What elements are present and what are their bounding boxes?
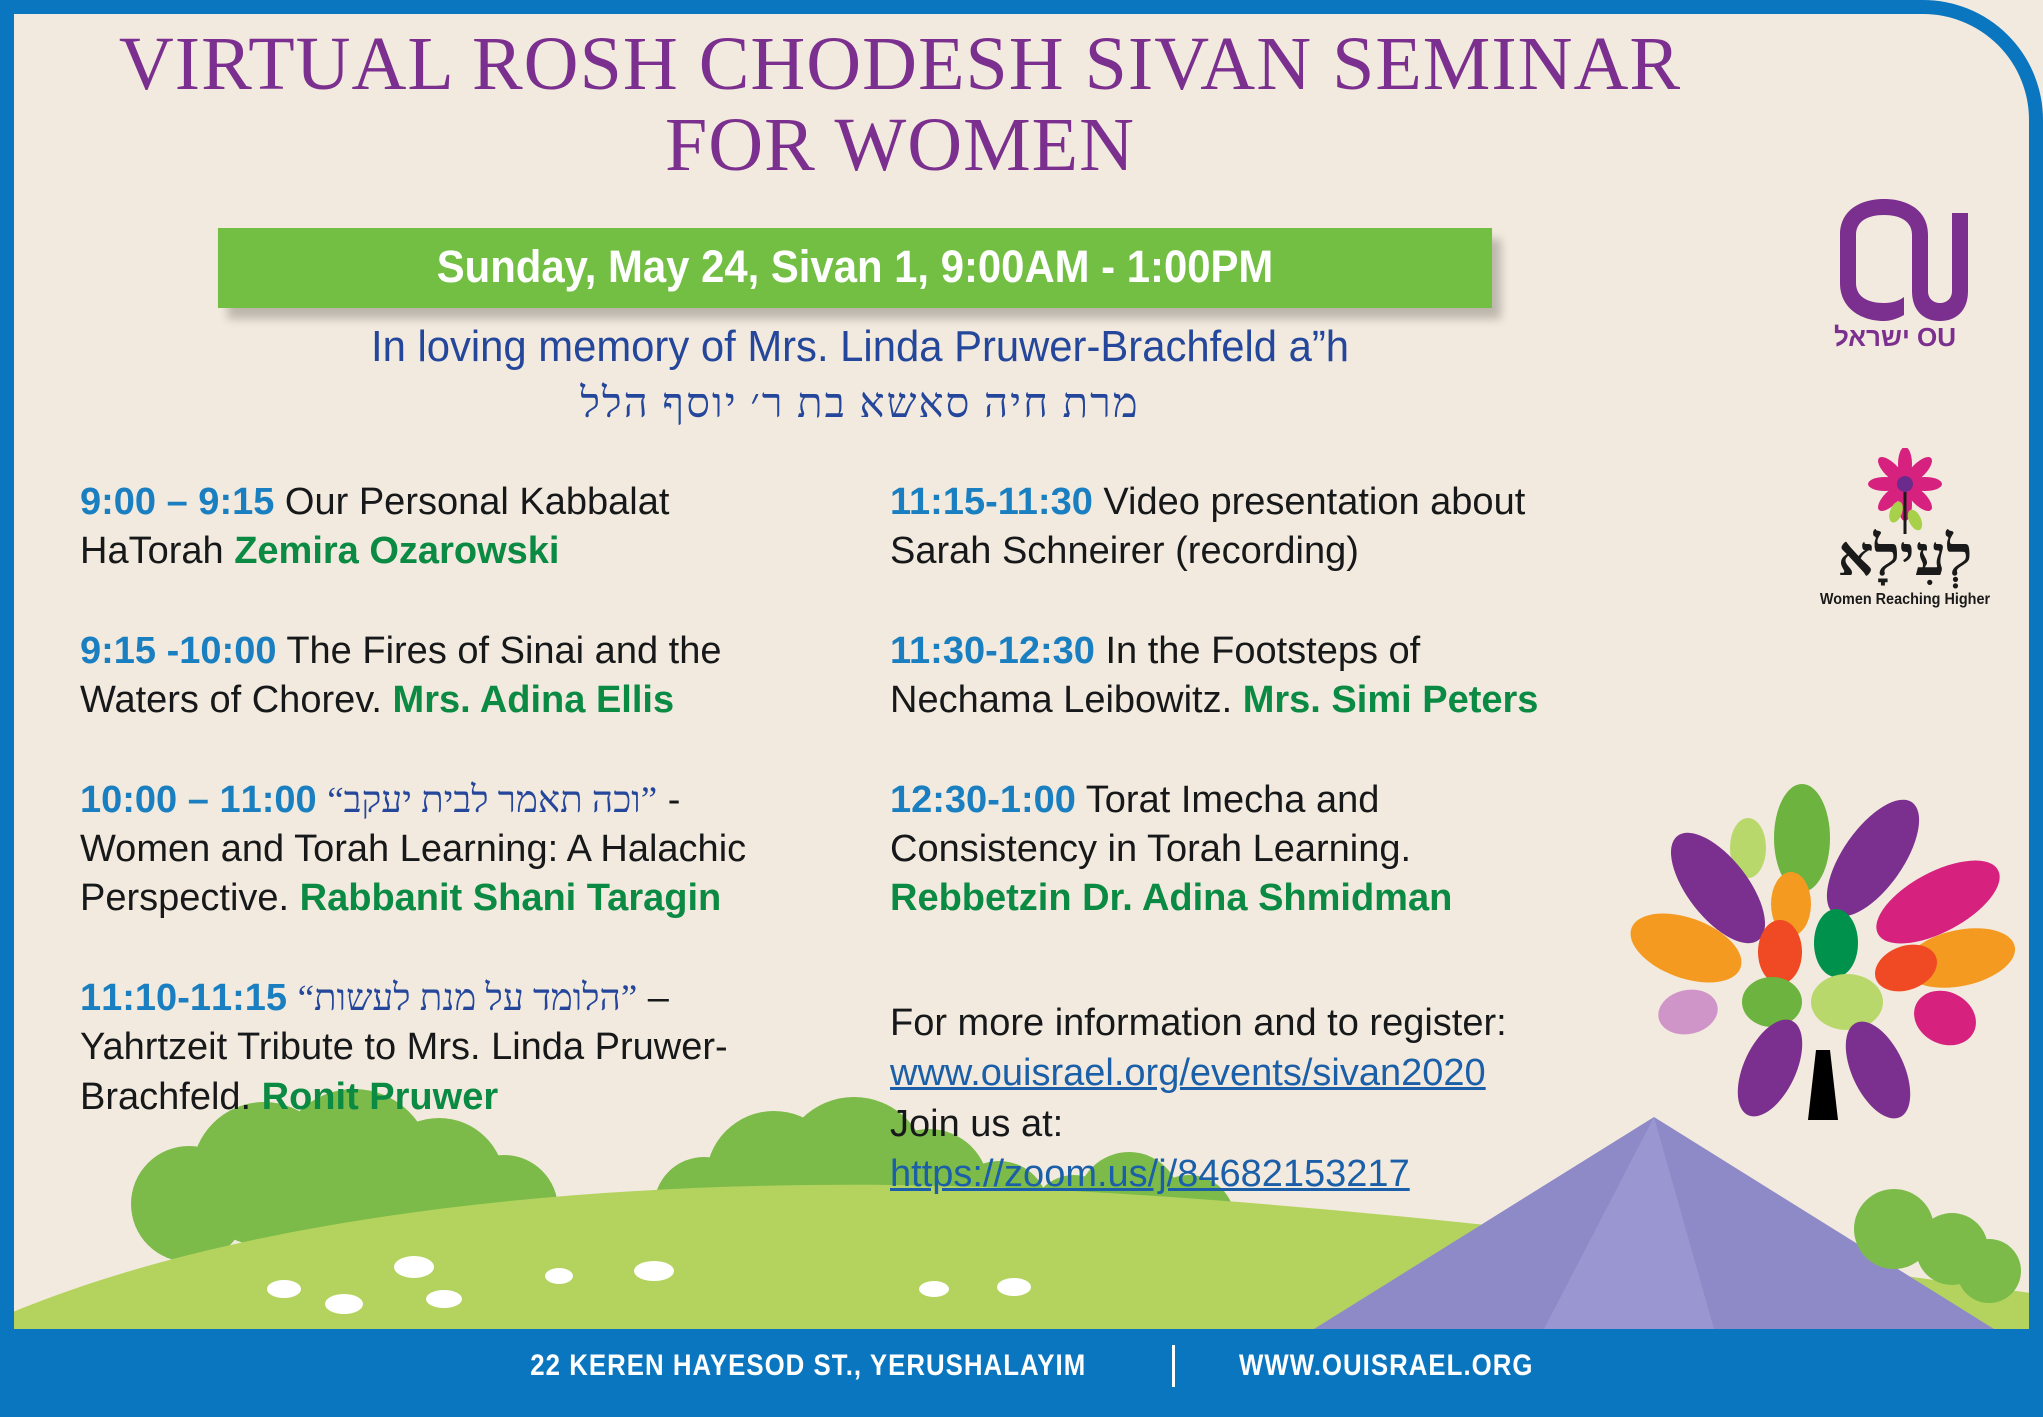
layla-logo-tagline: Women Reaching Higher	[1820, 591, 1991, 609]
session-speaker: Zemira Ozarowski	[234, 530, 559, 572]
tree-illustration	[1620, 780, 2020, 1120]
memorial-line-hebrew: מרת חיה סאשא בת ר׳ יוסף הלל	[150, 380, 1570, 428]
session-speaker: Mrs. Simi Peters	[1243, 679, 1539, 721]
session-item: 11:15-11:30 Video presentation about Sar…	[890, 478, 1590, 577]
date-banner-wrapper: Sunday, May 24, Sivan 1, 9:00AM - 1:00PM	[170, 228, 1540, 308]
session-time: 11:10-11:15	[80, 977, 287, 1019]
registration-intro: For more information and to register:	[890, 998, 1590, 1049]
session-item: 10:00 – 11:00 ”וכה תאמר לבית יעקב“ - Wom…	[80, 776, 810, 924]
layla-logo-hebrew: לְעִילָא	[1810, 529, 2000, 585]
session-item: 11:30-12:30 In the Footsteps of Nechama …	[890, 627, 1590, 726]
join-label: Join us at:	[890, 1103, 1063, 1145]
schedule-column-right: 11:15-11:30 Video presentation about Sar…	[890, 478, 1590, 1200]
footer-website: WWW.OUISRAEL.ORG	[1239, 1349, 1534, 1383]
session-hebrew: ”הלומד על מנת לעשות“	[298, 978, 638, 1019]
session-time: 9:00 – 9:15	[80, 481, 274, 523]
event-flyer: VIRTUAL ROSH CHODESH SIVAN SEMINAR FOR W…	[0, 0, 2043, 1417]
page-title-block: VIRTUAL ROSH CHODESH SIVAN SEMINAR FOR W…	[60, 24, 1740, 185]
session-hebrew: ”וכה תאמר לבית יעקב“	[327, 780, 657, 821]
session-speaker: Mrs. Adina Ellis	[393, 679, 675, 721]
footer-bar: 22 KEREN HAYESOD ST., YERUSHALAYIM WWW.O…	[14, 1329, 2029, 1403]
session-speaker: Rebbetzin Dr. Adina Shmidman	[890, 877, 1452, 919]
session-speaker: Rabbanit Shani Taragin	[300, 877, 722, 919]
ou-logo-icon	[1820, 195, 1970, 323]
session-time: 12:30-1:00	[890, 779, 1076, 821]
session-item: 12:30-1:00 Torat Imecha and Consistency …	[890, 776, 1590, 924]
date-banner: Sunday, May 24, Sivan 1, 9:00AM - 1:00PM	[218, 228, 1492, 308]
footer-address: 22 KEREN HAYESOD ST., YERUSHALAYIM	[531, 1349, 1087, 1383]
session-item: 9:15 -10:00 The Fires of Sinai and the W…	[80, 627, 810, 726]
registration-website-link[interactable]: www.ouisrael.org/events/sivan2020	[890, 1052, 1486, 1094]
session-item: 11:10-11:15 ”הלומד על מנת לעשות“ – Yahrt…	[80, 974, 810, 1122]
session-time: 10:00 – 11:00	[80, 779, 317, 821]
layla-logo: לְעִילָא Women Reaching Higher	[1810, 448, 2000, 609]
zoom-meeting-link[interactable]: https://zoom.us/j/84682153217	[890, 1153, 1410, 1195]
session-item: 9:00 – 9:15 Our Personal Kabbalat HaTora…	[80, 478, 810, 577]
memorial-line-english: In loving memory of Mrs. Linda Pruwer-Br…	[186, 322, 1535, 372]
session-speaker: Ronit Pruwer	[262, 1076, 498, 1118]
session-time: 9:15 -10:00	[80, 630, 276, 672]
session-time: 11:15-11:30	[890, 481, 1093, 523]
ou-israel-logo: OU ישראל	[1800, 195, 1990, 353]
footer-divider	[1172, 1345, 1175, 1387]
ou-logo-label: OU ישראל	[1800, 322, 1990, 353]
registration-block: For more information and to register: ww…	[890, 998, 1590, 1200]
session-time: 11:30-12:30	[890, 630, 1095, 672]
page-title: VIRTUAL ROSH CHODESH SIVAN SEMINAR FOR W…	[60, 24, 1740, 185]
schedule-column-left: 9:00 – 9:15 Our Personal Kabbalat HaTora…	[80, 478, 810, 1172]
flower-icon	[1850, 448, 1960, 534]
